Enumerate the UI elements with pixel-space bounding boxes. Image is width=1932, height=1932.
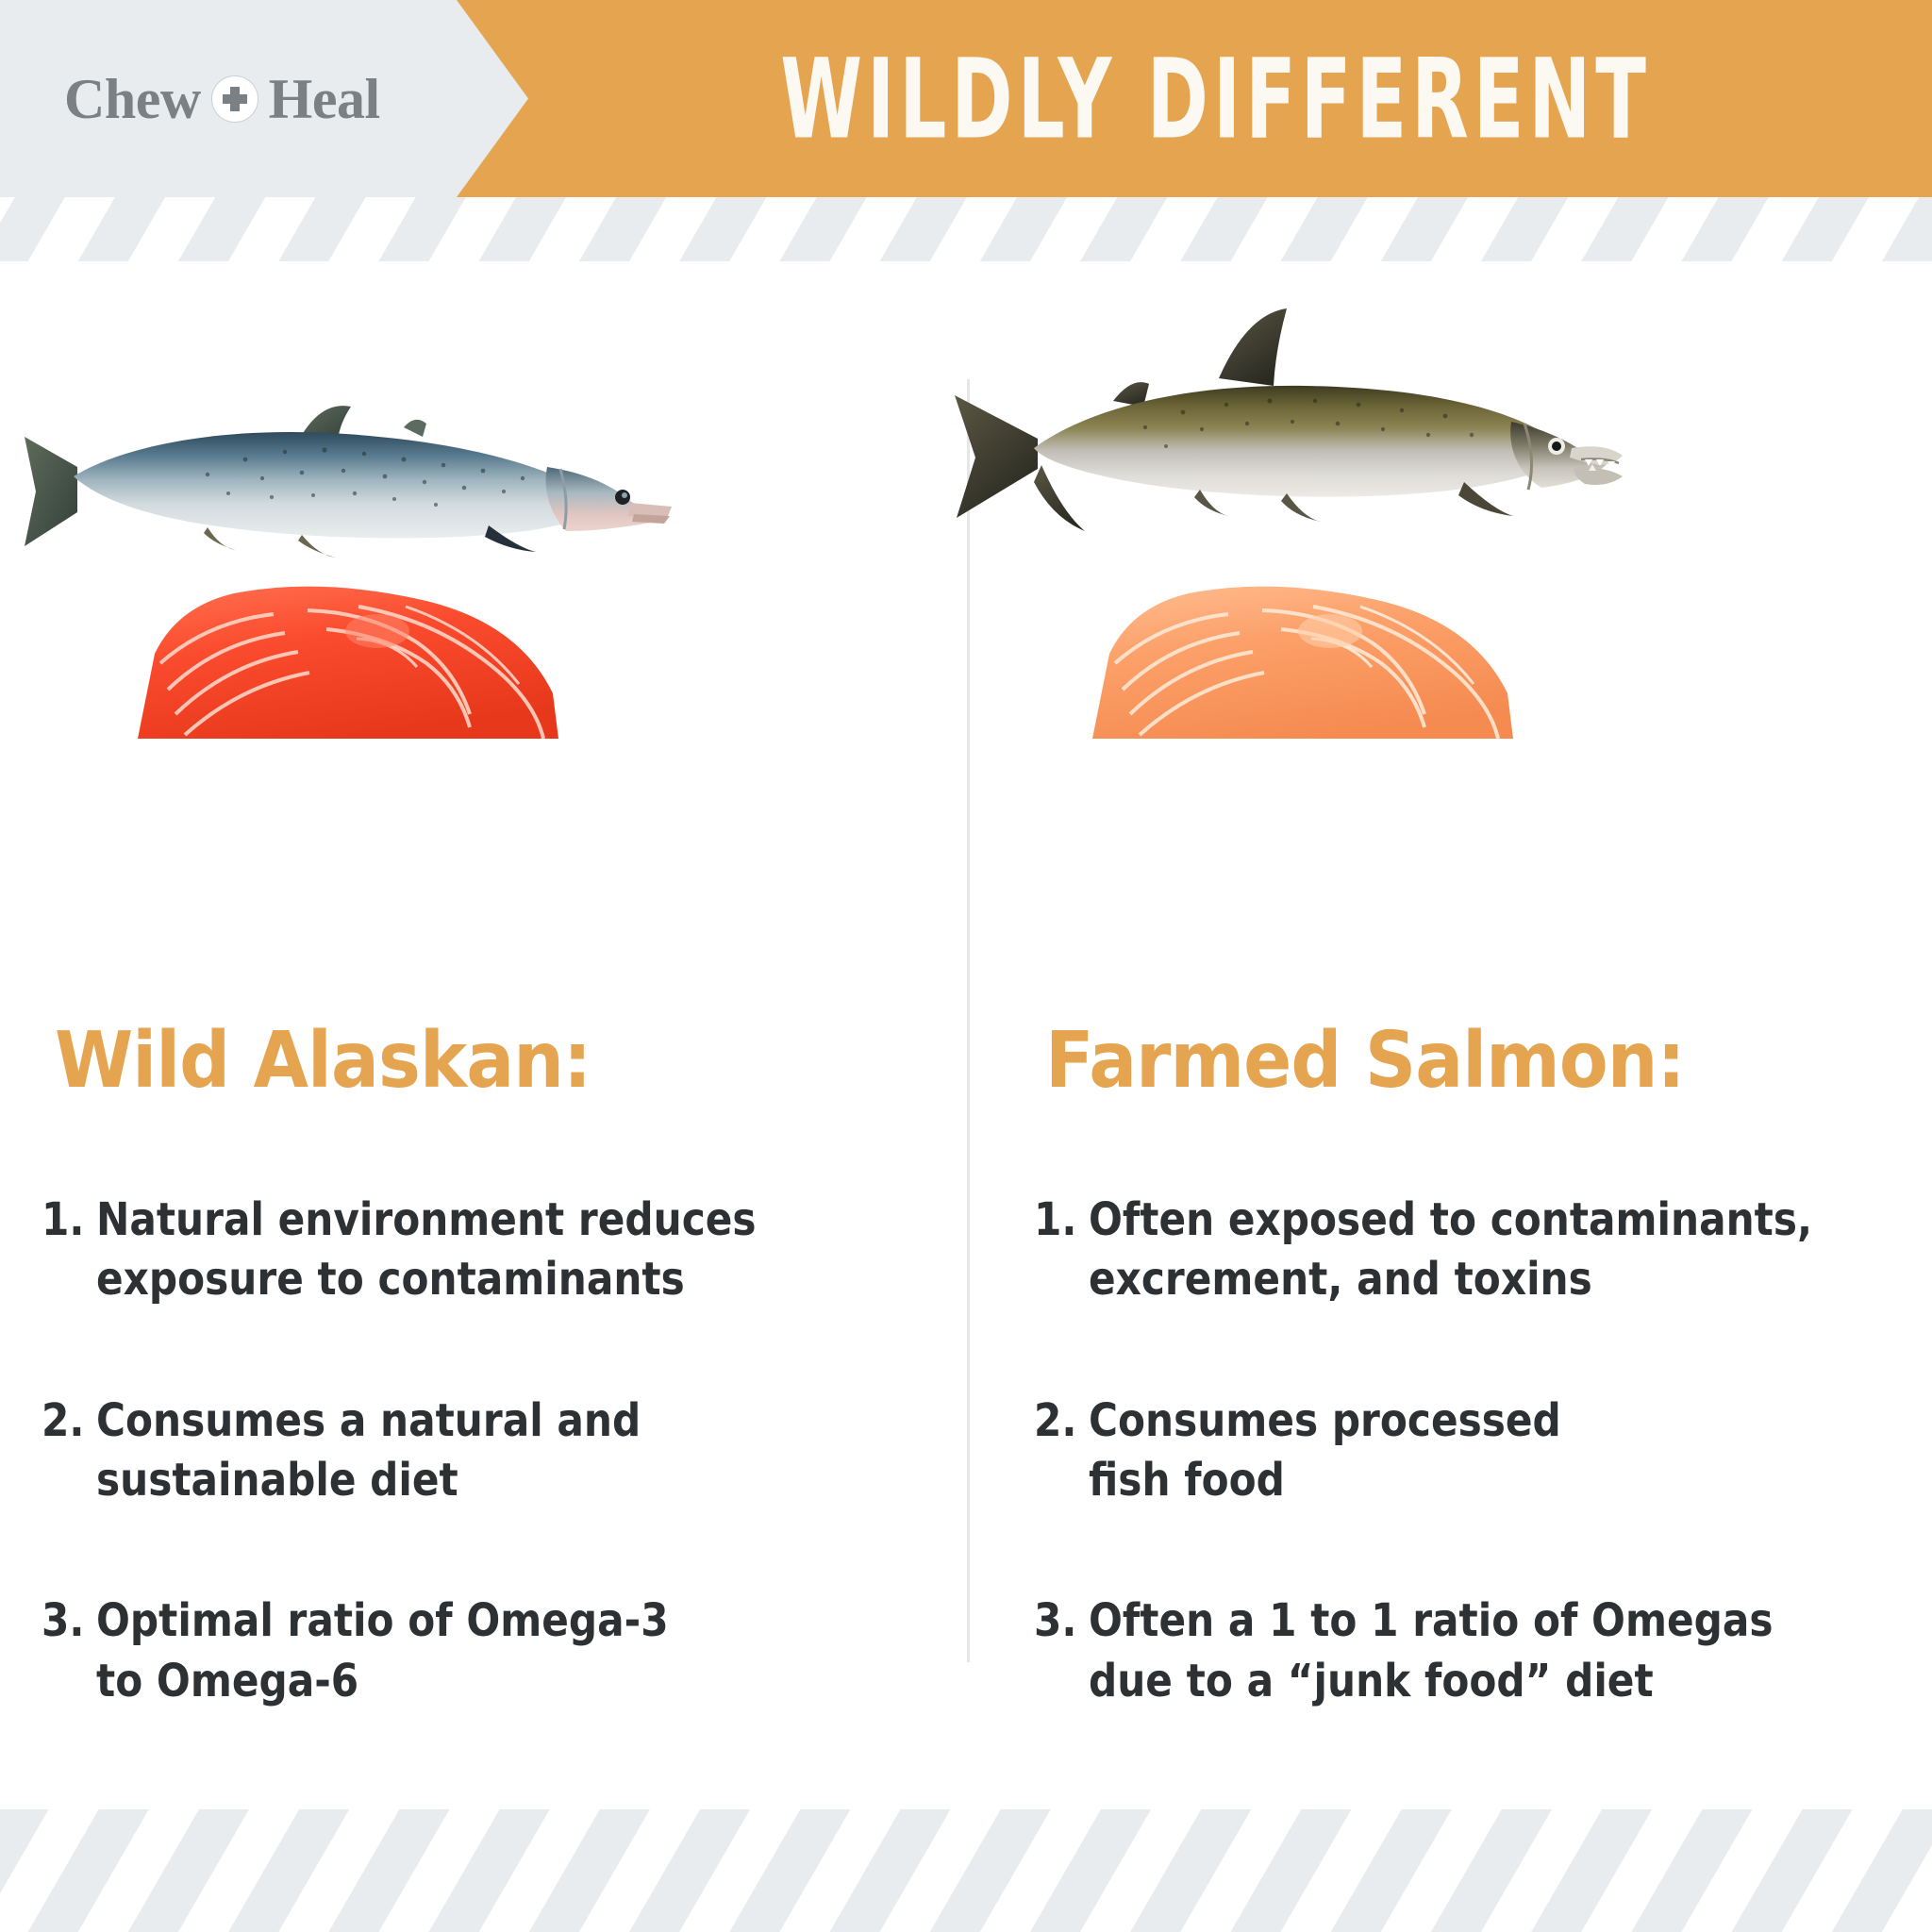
list-item-number: 3. — [1034, 1591, 1082, 1651]
brand-logo[interactable]: Chew Heal — [64, 71, 380, 127]
column-wild: Wild Alaskan: 1. Natural environment red… — [0, 261, 966, 1809]
top-stripe-band — [0, 197, 1932, 261]
wild-salmon-photo — [0, 280, 966, 573]
list-item: 1. Often exposed to contaminants, excrem… — [1034, 1191, 1911, 1310]
brand-name-second: Heal — [269, 71, 380, 127]
column-farmed: Farmed Salmon: 1. Often exposed to conta… — [966, 261, 1932, 1809]
farmed-salmon-fillet-photo — [966, 554, 1932, 780]
list-item: 2. Consumes processed fish food — [1034, 1391, 1911, 1511]
list-item-text: Often exposed to contaminants, excrement… — [1089, 1191, 1812, 1310]
list-item-text: Often a 1 to 1 ratio of Omegas due to a … — [1089, 1591, 1774, 1711]
list-item: 3. Often a 1 to 1 ratio of Omegas due to… — [1034, 1591, 1911, 1711]
plus-circle-icon — [211, 75, 258, 123]
list-item-number: 2. — [1034, 1391, 1082, 1451]
fact-list-farmed: 1. Often exposed to contaminants, excrem… — [1034, 1191, 1911, 1792]
list-item: 1. Natural environment reduces exposure … — [42, 1191, 891, 1310]
heading-farmed: Farmed Salmon: — [1045, 1016, 1685, 1106]
list-item-text: Natural environment reduces exposure to … — [96, 1191, 757, 1310]
list-item-text: Consumes processed fish food — [1089, 1391, 1561, 1511]
wild-salmon-fillet-photo — [0, 554, 966, 780]
heading-wild: Wild Alaskan: — [55, 1016, 591, 1106]
list-item-number: 3. — [42, 1591, 90, 1651]
list-item-number: 2. — [42, 1391, 90, 1451]
list-item-number: 1. — [42, 1191, 90, 1250]
header-banner: Chew Heal WILDLY DIFFERENT — [0, 0, 1932, 197]
page-title: WILDLY DIFFERENT — [528, 0, 1932, 197]
comparison-content: Wild Alaskan: 1. Natural environment red… — [0, 261, 1932, 1809]
bottom-stripe-band — [0, 1809, 1932, 1932]
list-item-number: 1. — [1034, 1191, 1082, 1250]
fact-list-wild: 1. Natural environment reduces exposure … — [42, 1191, 891, 1792]
list-item-text: Optimal ratio of Omega-3 to Omega-6 — [96, 1591, 669, 1711]
page-title-text: WILDLY DIFFERENT — [781, 34, 1652, 163]
list-item: 2. Consumes a natural and sustainable di… — [42, 1391, 891, 1511]
farmed-salmon-photo — [966, 280, 1932, 573]
list-item: 3. Optimal ratio of Omega-3 to Omega-6 — [42, 1591, 891, 1711]
list-item-text: Consumes a natural and sustainable diet — [96, 1391, 641, 1511]
brand-name-first: Chew — [64, 71, 201, 127]
